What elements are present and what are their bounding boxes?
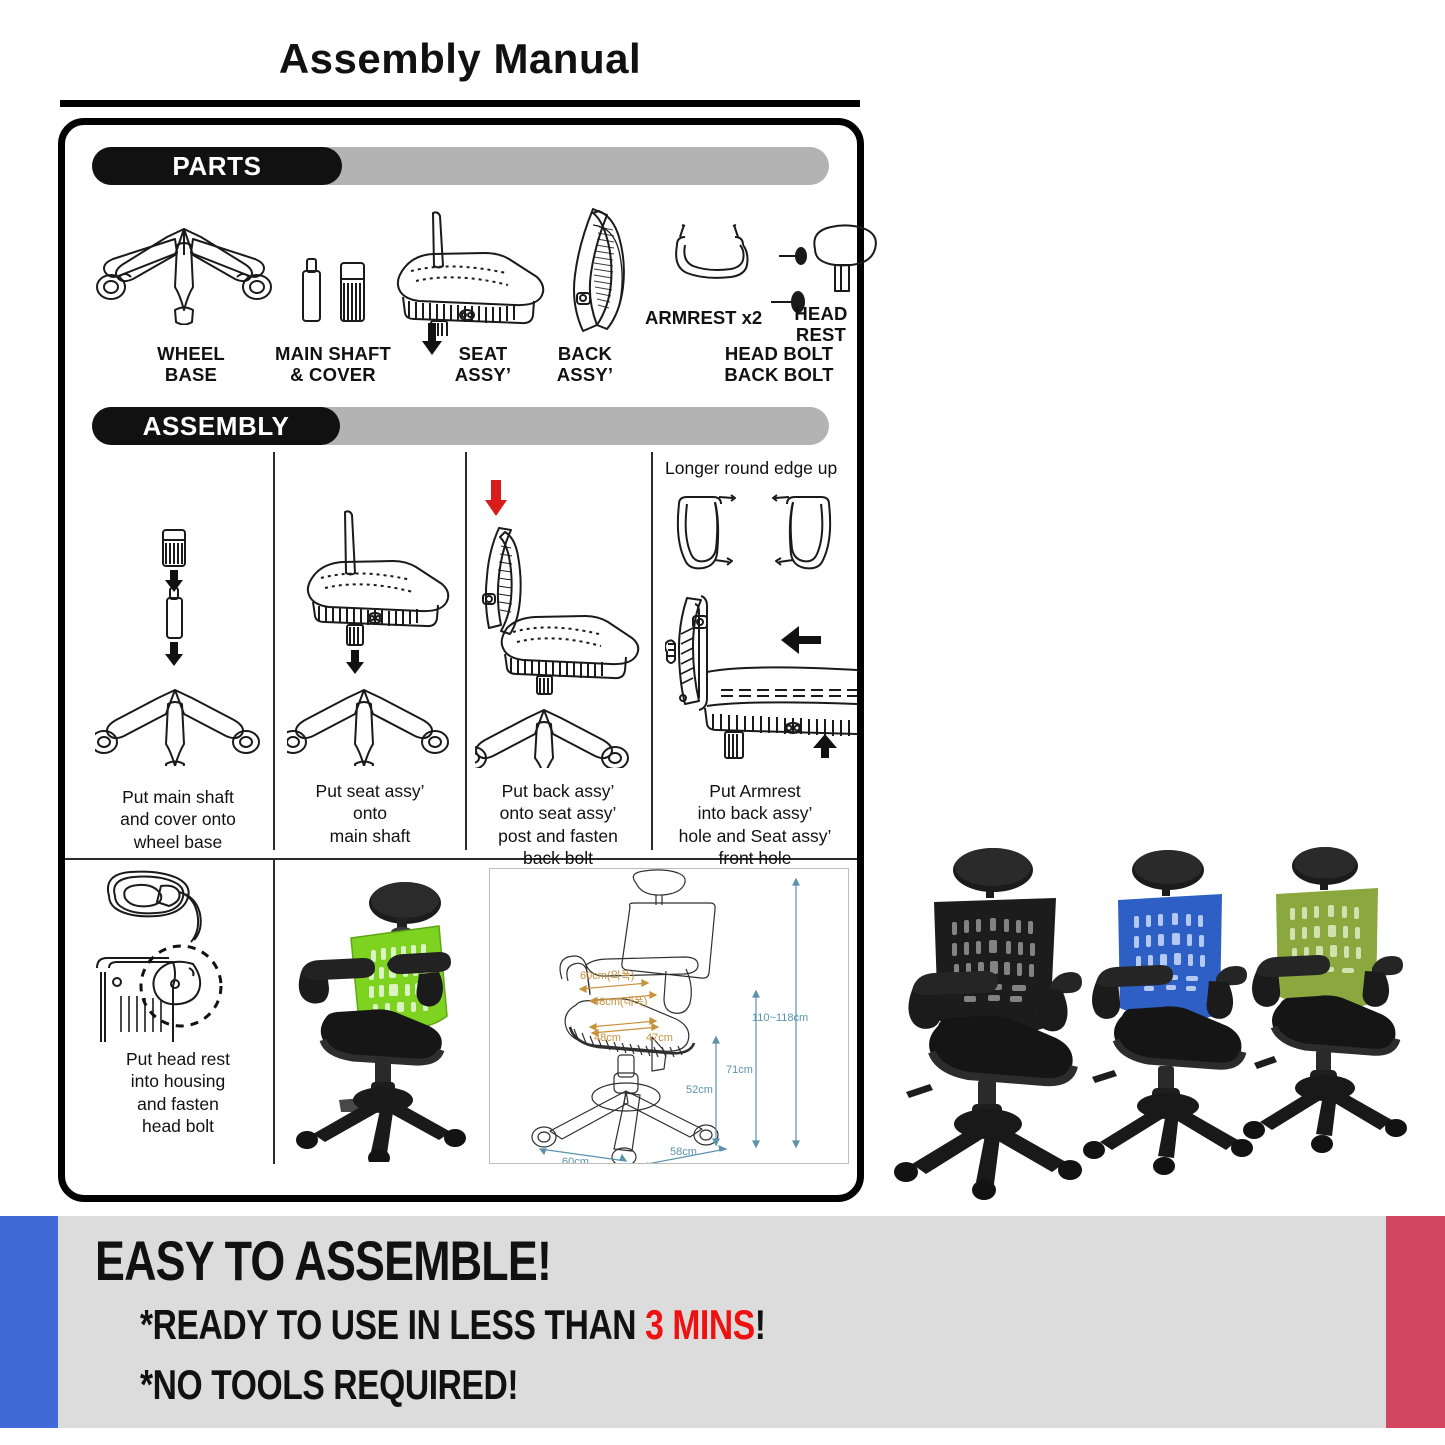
- part-label-bolts: HEAD BOLTBACK BOLT: [679, 343, 879, 386]
- dim-60cm-base: 60cm: [562, 1156, 589, 1163]
- step-3-caption: Put back assy’onto seat assy’post and fa…: [469, 780, 647, 870]
- title-rule: [60, 100, 860, 107]
- banner-subline-1: *READY TO USE IN LESS THAN 3 MINS!: [140, 1301, 766, 1349]
- shaft-cover-icon: [333, 257, 373, 327]
- dim-58cm-base: 58cm: [670, 1146, 697, 1158]
- assembly-section-label: ASSEMBLY: [143, 411, 290, 442]
- parts-diagram-area: WHEELBASE MAIN SHAFT& COVER SEATASSY’ BA…: [65, 203, 857, 425]
- step2-diagram: [287, 510, 459, 766]
- part-label-seat-assy: SEATASSY’: [435, 343, 531, 386]
- assembly-pill-cap: ASSEMBLY: [92, 407, 340, 445]
- promo-banner: EASY TO ASSEMBLE! *READY TO USE IN LESS …: [0, 1216, 1445, 1428]
- banner-left-color-band: [0, 1216, 58, 1428]
- seat-assy-icon: [383, 211, 553, 336]
- armrest-orientation-note: Longer round edge up: [665, 458, 837, 479]
- dim-52cm: 52cm: [686, 1084, 713, 1096]
- part-label-main-shaft: MAIN SHAFT& COVER: [243, 343, 423, 386]
- dim-71cm: 71cm: [726, 1064, 753, 1076]
- part-label-armrest: ARMREST x2: [645, 307, 762, 328]
- dim-110-118cm: 110~118cm: [752, 1012, 808, 1024]
- dim-48cm-seat: 48cm: [594, 1032, 621, 1044]
- page-title: Assembly Manual: [60, 38, 860, 80]
- banner-subline-2: *NO TOOLS REQUIRED!: [140, 1361, 518, 1409]
- dim-60cm-outer: 60cm(외폭): [580, 969, 634, 982]
- banner-headline: EASY TO ASSEMBLE!: [95, 1228, 551, 1293]
- banner-subline-1-pre: *READY TO USE IN LESS THAN: [140, 1301, 645, 1348]
- assembly-section-bar: ASSEMBLY: [92, 407, 829, 445]
- assembly-steps-area: Longer round edge up: [65, 470, 857, 1190]
- product-photo-three-chairs: [890, 830, 1440, 1205]
- step4-armrests-icon: [669, 486, 839, 591]
- step-divider-2: [465, 452, 467, 850]
- assembly-manual-sheet: PARTS: [58, 118, 864, 1202]
- parts-section-bar: PARTS: [92, 147, 829, 185]
- armrest-icon: [663, 221, 753, 291]
- main-shaft-icon: [293, 255, 329, 327]
- parts-pill-cap: PARTS: [92, 147, 342, 185]
- step-1-caption: Put main shaftand cover ontowheel base: [87, 786, 269, 853]
- green-chair-photo: [279, 868, 487, 1162]
- step-4-caption: Put Armrestinto back assy’hole and Seat …: [655, 780, 855, 870]
- step-divider-1: [273, 452, 275, 850]
- part-label-back-assy: BACKASSY’: [535, 343, 635, 386]
- dimension-diagram: 60cm(외폭) 48cm(내폭) 48cm 47cm 52cm 71cm 11…: [489, 868, 849, 1164]
- part-label-head-rest: HEADREST: [771, 303, 871, 346]
- step5-diagram: [89, 868, 269, 1043]
- step1-diagram: [95, 526, 265, 766]
- part-label-wheel-base: WHEELBASE: [141, 343, 241, 386]
- step3-diagram: [475, 524, 655, 768]
- head-rest-icon: [805, 223, 879, 303]
- step3-down-arrow-icon: [483, 480, 509, 518]
- back-assy-icon: [559, 205, 641, 335]
- banner-highlight-time: 3 MINS: [645, 1301, 755, 1348]
- step-divider-4: [273, 858, 275, 1164]
- banner-right-color-band: [1386, 1216, 1445, 1428]
- step4-diagram: [665, 594, 860, 774]
- banner-subline-1-post: !: [755, 1301, 766, 1348]
- parts-section-label: PARTS: [172, 151, 261, 182]
- step-2-caption: Put seat assy’ontomain shaft: [279, 780, 461, 847]
- wheel-base-icon: [89, 215, 279, 325]
- dim-48cm-inner: 48cm(내폭): [593, 995, 647, 1008]
- dim-47cm-seat: 47cm: [646, 1032, 673, 1044]
- step-5-caption: Put head restinto housingand fastenhead …: [83, 1048, 273, 1138]
